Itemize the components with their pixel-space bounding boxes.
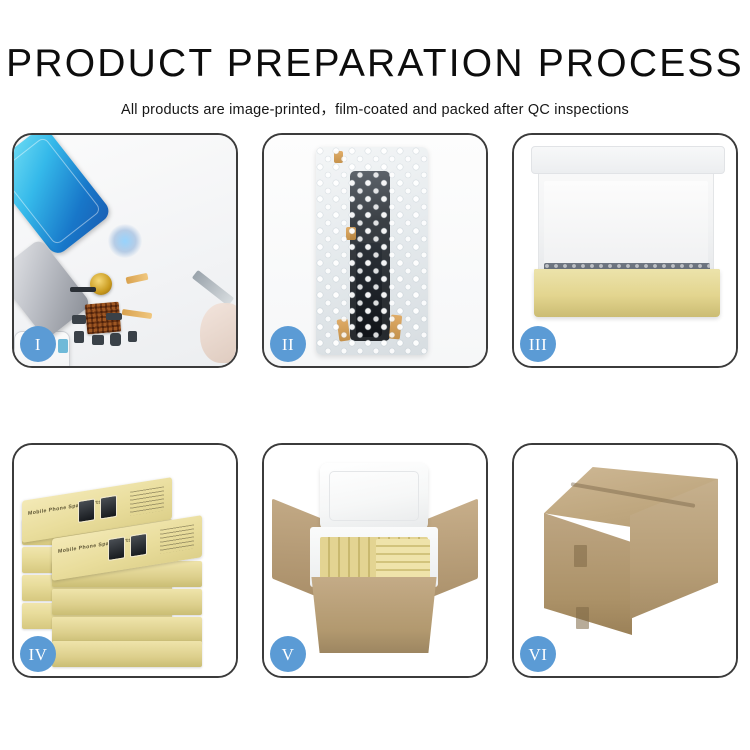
step-badge-4: IV [20,636,56,672]
component-dot-5 [128,331,137,342]
box-base-yellow [534,269,720,317]
step-numeral-6: VI [529,646,548,663]
box-print-image-2 [100,495,117,520]
step-badge-6: VI [520,636,556,672]
component-dot-6 [58,339,68,353]
carton-tape-2 [576,607,589,629]
inner-boxes-row-2 [376,539,430,579]
component-dot-4 [110,333,121,346]
component-bar-1 [70,287,96,292]
step-badge-3: III [520,326,556,362]
step-badge-2: II [270,326,306,362]
step-card-5: V [262,443,488,678]
step-card-3: III [512,133,738,368]
step-numeral-3: III [529,336,547,353]
step-badge-1: I [20,326,56,362]
box-print-image-4 [130,533,147,558]
step-card-2: II [262,133,488,368]
process-steps-grid: I II [12,133,738,678]
bubble-wrap-bag [316,147,428,355]
carton-tape-1 [574,545,587,567]
phone-adhesive-blue [14,135,113,257]
carton-front-panel [306,577,442,653]
step-card-6: VI [512,443,738,678]
step-numeral-2: II [282,336,294,353]
stacked-box-front-2 [52,589,202,615]
stacked-box-front-3 [52,617,202,643]
step-card-4: Mobile Phone Spare Parts Mobile Phone Sp… [12,443,238,678]
component-dot-3 [92,335,104,345]
page-title: PRODUCT PREPARATION PROCESS [0,44,750,83]
box-print-image-3 [108,536,125,561]
hand-holding-tool [200,303,236,363]
step-badge-5: V [270,636,306,672]
stacked-box-front-4 [52,641,202,667]
flex-cable-2 [122,309,153,319]
box-print-textblock-1 [130,486,164,515]
box-print-image-1 [78,498,95,523]
header: PRODUCT PREPARATION PROCESS All products… [0,0,750,119]
component-dot-1 [72,315,86,324]
step-numeral-4: IV [29,646,48,663]
bubble-texture [316,147,428,355]
step-numeral-5: V [282,646,295,663]
box-print-textblock-2 [160,524,194,553]
component-dot-7 [106,313,122,320]
tweezer-tool [192,270,234,306]
box-stack: Mobile Phone Spare Parts Mobile Phone Sp… [22,465,232,665]
flex-cable-1 [126,273,149,284]
foam-sheet [544,181,708,267]
step-card-1: I [12,133,238,368]
component-dot-2 [74,331,84,343]
product-preparation-infographic: PRODUCT PREPARATION PROCESS All products… [0,0,750,750]
page-subtitle: All products are image-printed，film-coat… [0,98,750,119]
step-numeral-1: I [35,336,41,353]
sealed-carton [530,467,726,649]
foam-lid-open [320,463,428,531]
